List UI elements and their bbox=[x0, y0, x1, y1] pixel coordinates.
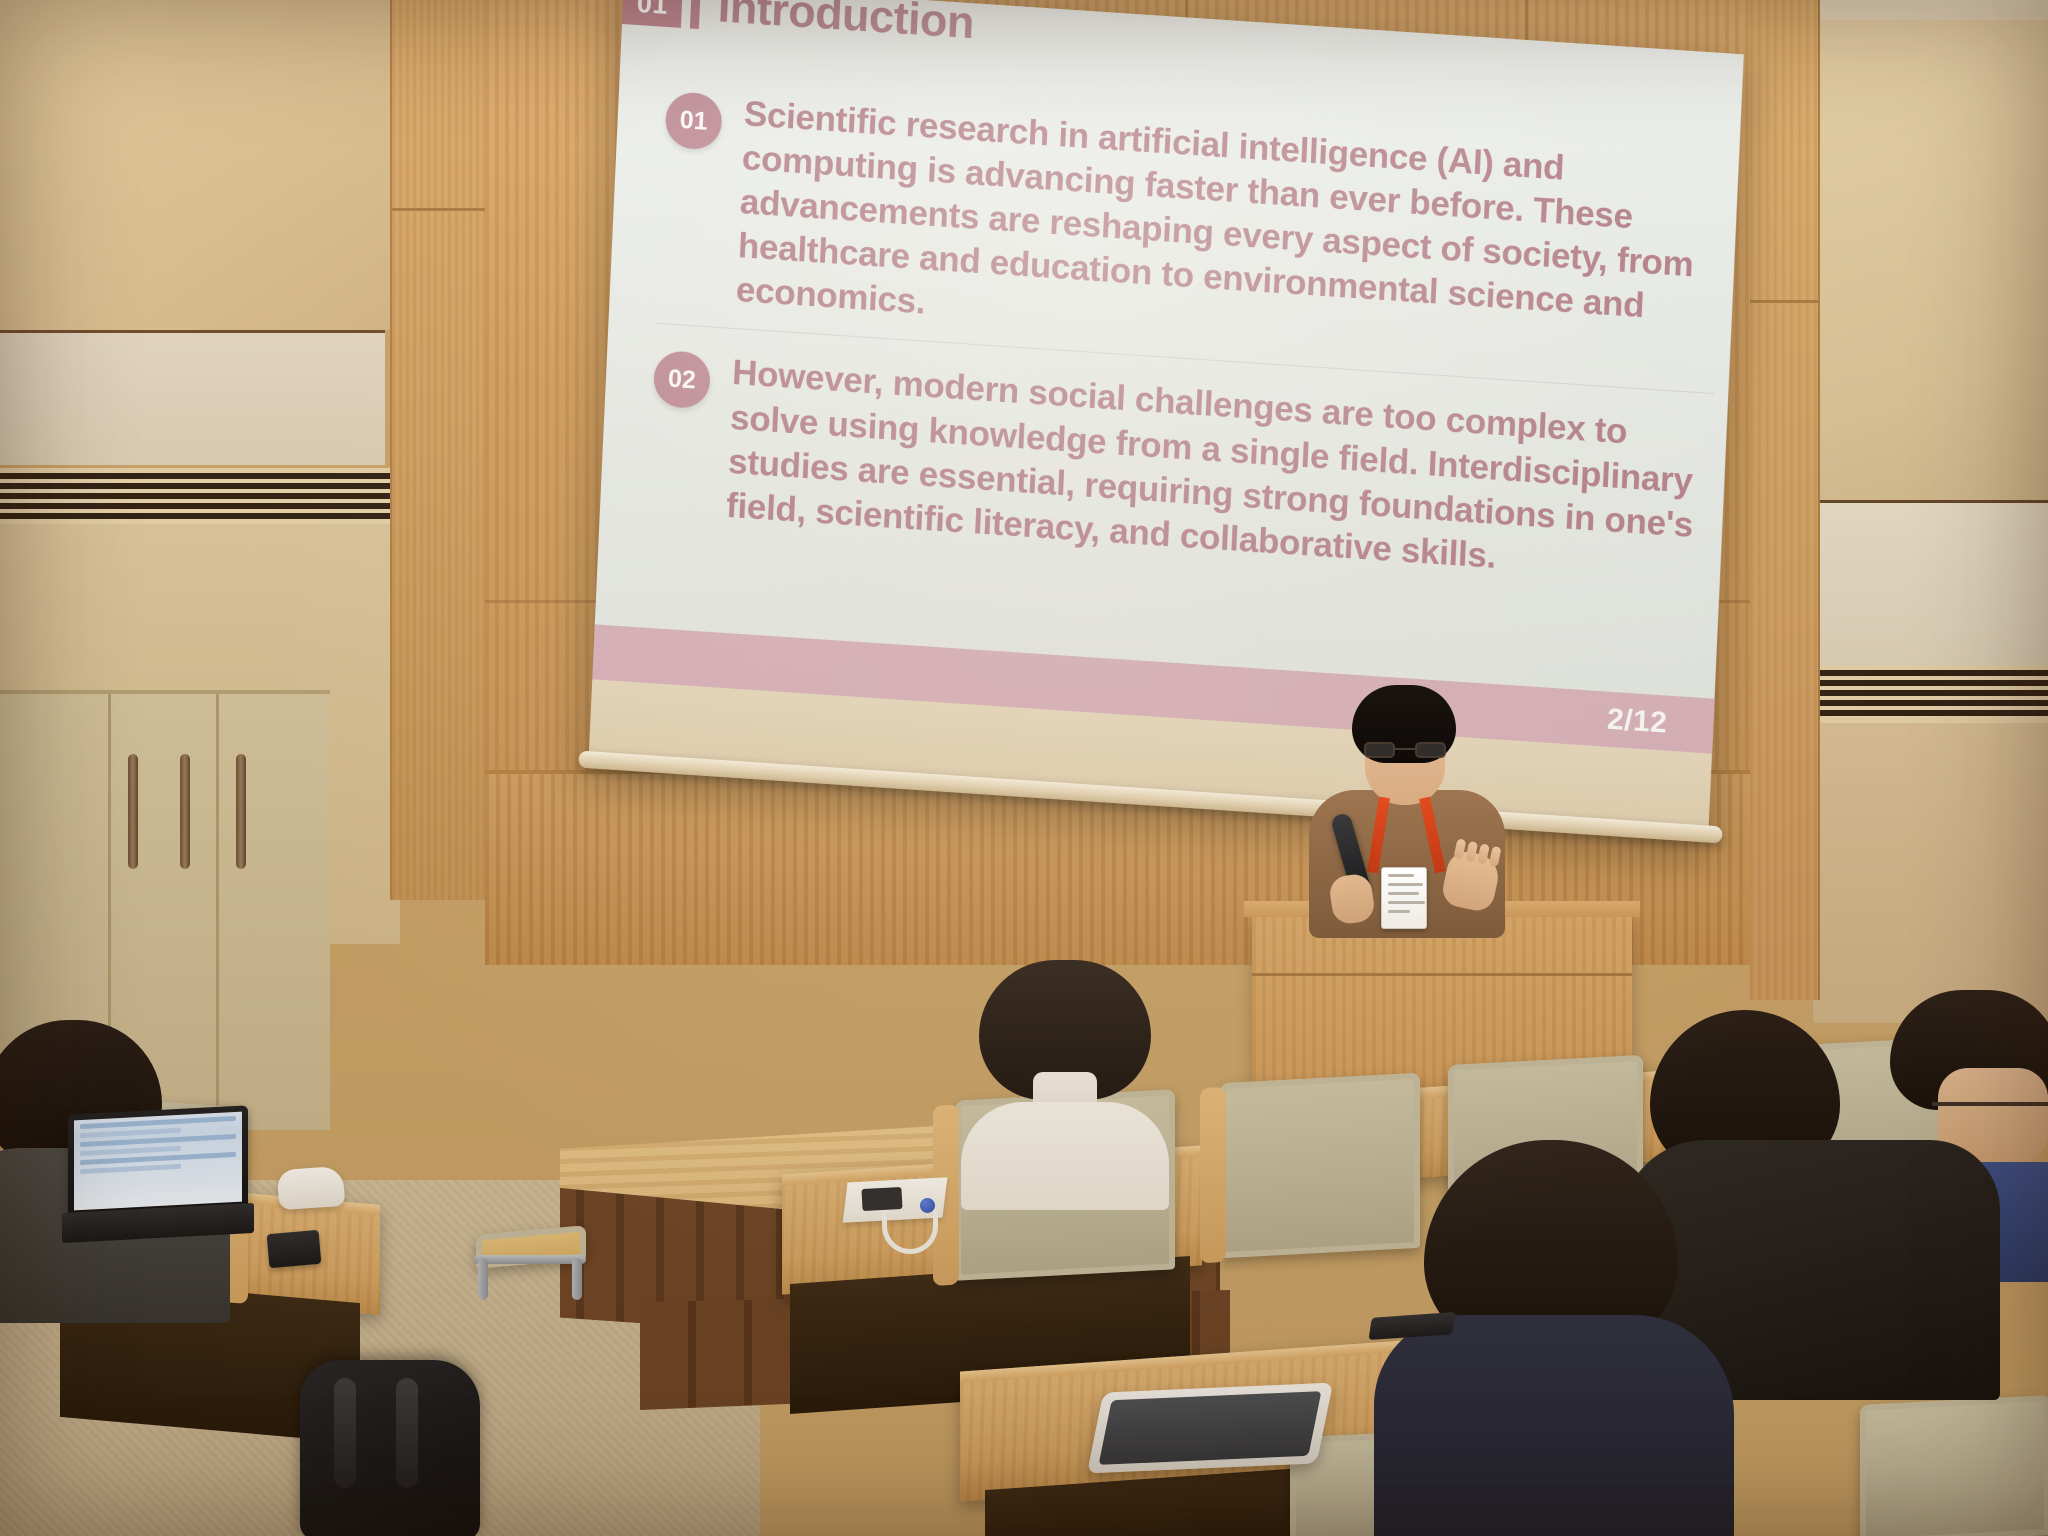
right-wood-column bbox=[1750, 0, 1820, 1000]
tablet[interactable] bbox=[1087, 1383, 1333, 1474]
right-wall-inset-panel bbox=[1820, 500, 2048, 665]
tablet-screen[interactable] bbox=[1099, 1391, 1322, 1465]
backpack bbox=[300, 1360, 480, 1536]
slide-title: Introduction bbox=[717, 0, 975, 47]
step-stool bbox=[470, 1230, 590, 1300]
title-accent-bar bbox=[690, 0, 702, 29]
name-badge bbox=[1381, 867, 1427, 929]
bullet-number-badge: 02 bbox=[653, 350, 711, 410]
bullet-text: However, modern social challenges are to… bbox=[725, 351, 1713, 592]
screen-surface: 01 Introduction 01 Scientific research i… bbox=[592, 0, 1744, 754]
lecture-hall-scene: 01 Introduction 01 Scientific research i… bbox=[0, 0, 2048, 1536]
slide-bullet-list: 01 Scientific research in artificial int… bbox=[647, 87, 1725, 609]
attendee-turtleneck bbox=[961, 1102, 1169, 1210]
attendee-center-white bbox=[955, 960, 1175, 1220]
podium-seam bbox=[1252, 973, 1632, 976]
tissue bbox=[277, 1166, 346, 1211]
attendee-right-hoodie bbox=[1380, 1140, 1720, 1536]
eyeglasses-icon bbox=[1364, 742, 1446, 758]
projection-screen: 01 Introduction 01 Scientific research i… bbox=[588, 0, 1744, 849]
page-number-indicator: 2/12 bbox=[1606, 702, 1668, 740]
left-wall-inset-panel bbox=[0, 330, 385, 465]
left-wood-column bbox=[390, 0, 485, 900]
ventilation-grille-icon bbox=[0, 468, 390, 524]
laptop-screen[interactable] bbox=[74, 1112, 242, 1211]
attendee-hoodie bbox=[1374, 1315, 1734, 1536]
section-number-tag: 01 bbox=[622, 0, 683, 28]
left-wall-upper-panel bbox=[0, 0, 400, 330]
right-wall-lower-panel bbox=[1813, 723, 2048, 1023]
step-stool-bar bbox=[474, 1255, 586, 1264]
presenter bbox=[1295, 685, 1525, 935]
ventilation-grille-right-icon bbox=[1820, 665, 2048, 723]
laptop[interactable] bbox=[62, 1110, 252, 1240]
right-wall-upper-panel bbox=[1818, 20, 2048, 520]
small-box bbox=[267, 1230, 322, 1268]
blue-lanyard bbox=[882, 1196, 942, 1256]
bullet-text: Scientific research in artificial intell… bbox=[735, 92, 1725, 377]
presentation-slide: 01 Introduction 01 Scientific research i… bbox=[595, 0, 1744, 699]
slide-header: 01 Introduction bbox=[622, 0, 977, 47]
auditorium-seat[interactable] bbox=[1860, 1395, 2048, 1536]
bullet-number-badge: 01 bbox=[664, 91, 722, 151]
